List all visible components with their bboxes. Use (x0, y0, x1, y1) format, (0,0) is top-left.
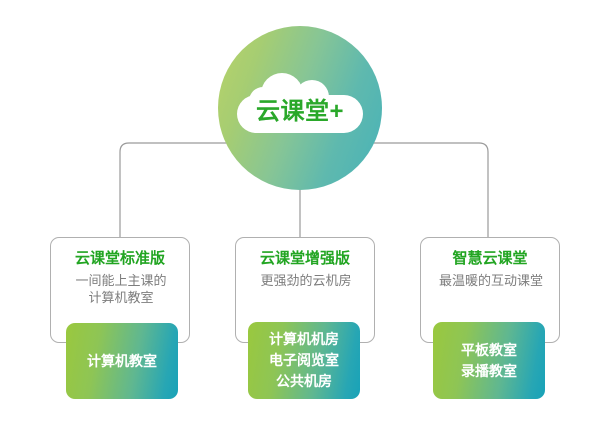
branch-description-standard: 一间能上主课的 计算机教室 (55, 272, 187, 306)
cloud-icon: 云课堂+ (237, 73, 363, 133)
tag-box-enhanced[interactable]: 计算机机房 电子阅览室 公共机房 (248, 322, 360, 399)
tag-item: 计算机机房 (269, 329, 339, 350)
branch-title-enhanced: 云课堂增强版 (236, 249, 374, 268)
branch-title-standard: 云课堂标准版 (51, 249, 189, 268)
branch-description-line: 最温暖的互动课堂 (425, 272, 557, 289)
branch-description-line: 更强劲的云机房 (240, 272, 372, 289)
branch-description-smart: 最温暖的互动课堂 (425, 272, 557, 289)
tag-item: 计算机教室 (87, 351, 157, 372)
branch-description-enhanced: 更强劲的云机房 (240, 272, 372, 289)
tag-item: 电子阅览室 (269, 350, 339, 371)
tag-item: 录播教室 (461, 361, 517, 382)
branch-title-smart: 智慧云课堂 (421, 249, 559, 268)
diagram-canvas: 云课堂+ 云课堂标准版 一间能上主课的 计算机教室 计算机教室 云课堂增强版 更… (0, 0, 600, 425)
connector-left (120, 143, 243, 237)
root-node-label: 云课堂+ (237, 97, 363, 127)
tag-item: 公共机房 (276, 371, 332, 392)
tag-box-smart[interactable]: 平板教室 录播教室 (433, 322, 545, 399)
tag-item: 平板教室 (461, 340, 517, 361)
branch-description-line: 计算机教室 (55, 289, 187, 306)
branch-description-line: 一间能上主课的 (55, 272, 187, 289)
connector-right (357, 143, 488, 237)
root-node-cloud[interactable]: 云课堂+ (218, 26, 382, 190)
tag-box-standard[interactable]: 计算机教室 (66, 323, 178, 399)
